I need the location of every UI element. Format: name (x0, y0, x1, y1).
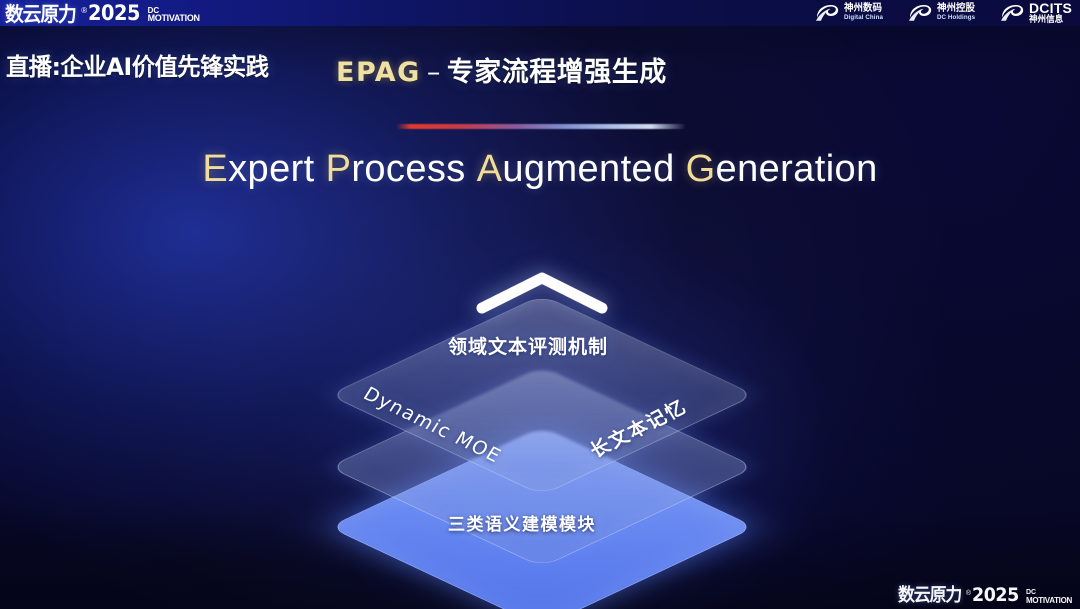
partner-name-en: DC Holdings (937, 15, 975, 22)
subtitle-space-1 (315, 148, 326, 190)
watermark-motivation-label: MOTIVATION (1026, 597, 1072, 604)
corner-watermark: 数云原力 ® 2025 DC MOTIVATION (898, 586, 1072, 605)
subtitle-cap-g: G (686, 148, 716, 190)
slide-canvas: 数云原力 ® 2025 DC MOTIVATION 神州数码 Digital C… (0, 0, 1080, 609)
registered-mark: ® (81, 7, 87, 15)
subtitle-word-expert: xpert (228, 148, 314, 190)
partner-logo-row: 神州数码 Digital China 神州控股 DC Holdings (814, 1, 1080, 26)
partner-logo-digital-china: 神州数码 Digital China (814, 3, 885, 23)
subtitle-expansion: Expert Process Augmented Generation (0, 148, 1080, 191)
subtitle-cap-e: E (202, 148, 228, 190)
partner-logo-dcits: DCITS 神州信息 (999, 1, 1072, 26)
watermark-dc-motivation: DC MOTIVATION (1026, 590, 1072, 604)
subtitle-space-2 (466, 148, 477, 190)
brand-motivation-label: MOTIVATION (148, 14, 200, 22)
partner-label-group: 神州数码 Digital China (844, 4, 885, 21)
layered-architecture-diagram: 领域文本评测机制 Dynamic MOE 长文本记忆 三类语义建模模块 (296, 228, 786, 568)
brand-name-cn: 数云原力 (5, 4, 76, 24)
gradient-divider (396, 124, 686, 129)
brand-year: 2025 (88, 3, 140, 24)
watermark-year: 2025 (972, 586, 1019, 605)
swoosh-icon (814, 3, 840, 23)
page-title-acronym: EPAG (336, 57, 421, 88)
page-title: EPAG–专家流程增强生成 (336, 50, 667, 89)
partner-name-en: Digital China (844, 15, 883, 22)
brand-dc-motivation: DC MOTIVATION (148, 7, 200, 23)
subtitle-cap-a: A (477, 148, 503, 190)
event-brand-logo: 数云原力 ® 2025 DC MOTIVATION (0, 3, 200, 24)
partner-logo-dc-holdings: 神州控股 DC Holdings (907, 3, 977, 23)
subtitle-word-process: rocess (351, 148, 465, 190)
subtitle-space-3 (675, 148, 686, 190)
chevron-up-icon (474, 270, 610, 314)
subtitle-cap-p: P (326, 148, 352, 190)
diagram-layer-top (296, 192, 786, 532)
subtitle-word-augmented: ugmented (502, 148, 674, 190)
watermark-brand-cn: 数云原力 (898, 587, 961, 605)
partner-name-en: DCITS (1029, 1, 1072, 15)
top-bar: 数云原力 ® 2025 DC MOTIVATION 神州数码 Digital C… (0, 0, 1080, 26)
partner-label-group: DCITS 神州信息 (1029, 1, 1072, 26)
page-title-dash: – (421, 57, 447, 88)
partner-name-cn: 神州信息 (1029, 15, 1070, 26)
page-title-cn: 专家流程增强生成 (447, 57, 667, 88)
livestream-title: 直播:企业AI价值先锋实践 (6, 47, 268, 82)
subtitle-word-generation: eneration (716, 148, 878, 190)
partner-label-group: 神州控股 DC Holdings (937, 4, 977, 21)
swoosh-icon (907, 3, 933, 23)
watermark-registered-mark: ® (966, 590, 971, 597)
layer-plate-top (328, 295, 755, 496)
swoosh-icon (999, 3, 1025, 23)
